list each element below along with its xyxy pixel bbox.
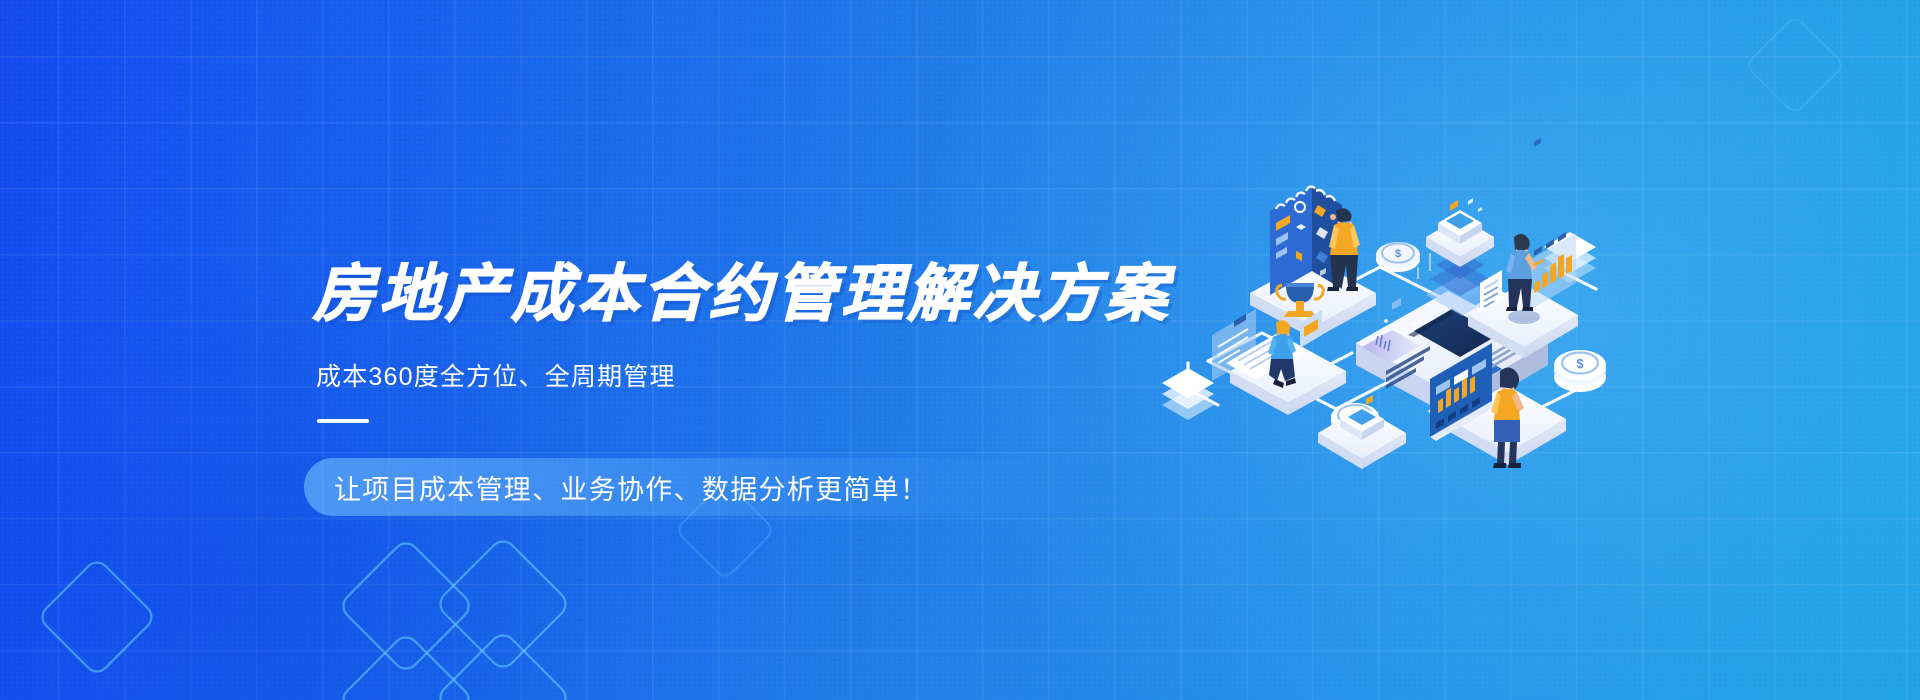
tagline-text: 让项目成本管理、业务协作、数据分析更简单！ xyxy=(334,458,928,516)
chart-panel-icon xyxy=(1528,138,1576,311)
diamond-outline-icon xyxy=(338,632,474,700)
diamond-outline-icon xyxy=(435,630,571,700)
hero-illustration: $ $ $ xyxy=(1130,175,1690,505)
paper-stack-icon xyxy=(1162,368,1214,420)
calendar-platform-group xyxy=(1250,136,1376,339)
diamond-outline-icon xyxy=(38,558,157,677)
diamond-outline-icon xyxy=(1746,16,1845,115)
tagline-pill: 让项目成本管理、业务协作、数据分析更简单！ xyxy=(304,458,1064,516)
svg-text:$: $ xyxy=(1395,248,1401,260)
title-divider xyxy=(317,419,369,423)
isometric-scene: $ $ $ xyxy=(1130,175,1690,505)
coin-icon: $ xyxy=(1376,242,1420,272)
diamond-outline-icon xyxy=(435,536,571,672)
coin-icon: $ xyxy=(1554,350,1606,392)
svg-text:$: $ xyxy=(1576,356,1584,371)
hero-banner: 房地产成本合约管理解决方案 成本360度全方位、全周期管理 让项目成本管理、业务… xyxy=(0,0,1920,700)
diamond-outline-icon xyxy=(338,538,474,674)
